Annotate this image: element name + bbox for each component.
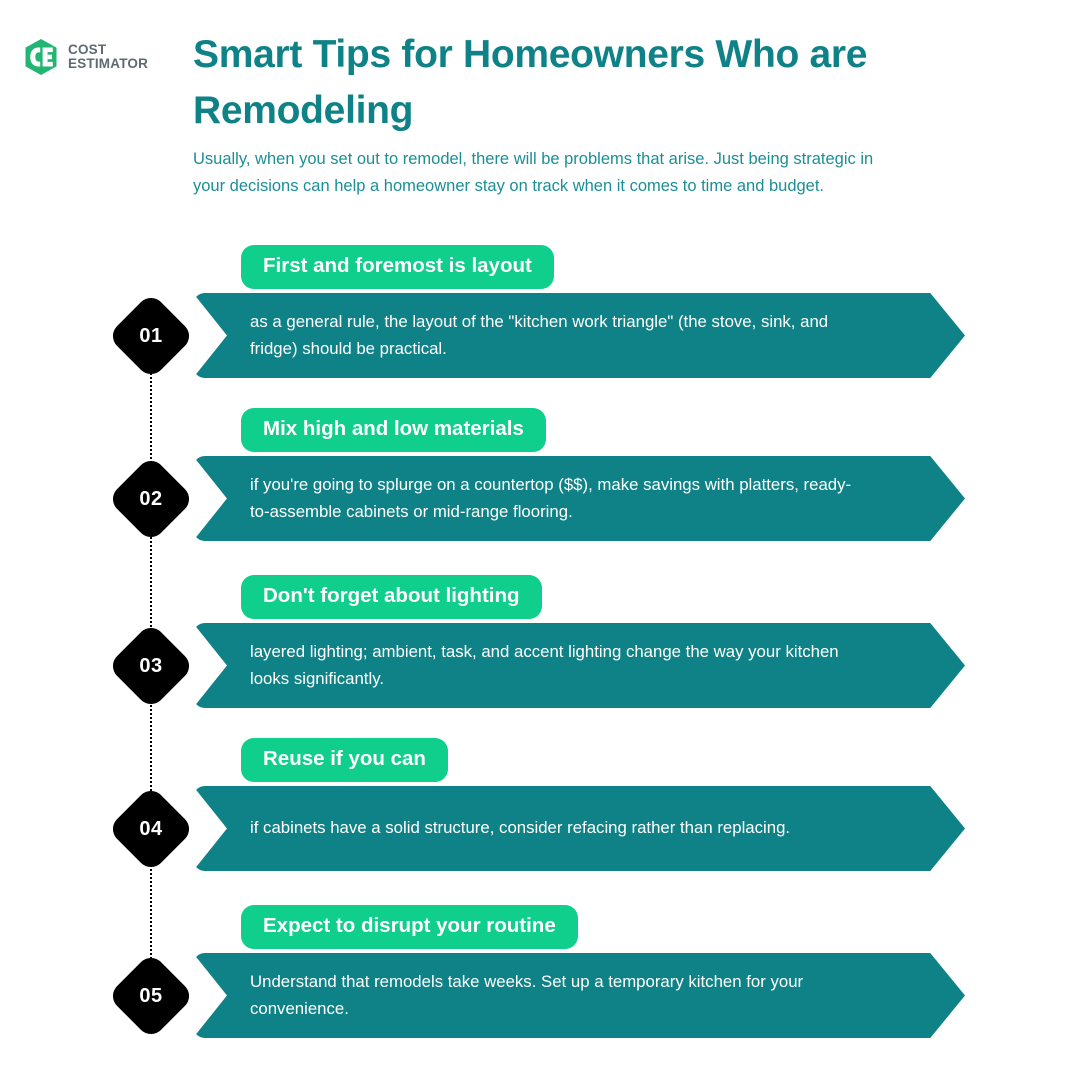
tips-list: First and foremost is layout as a genera…	[0, 0, 1080, 1080]
tip-body-banner: Understand that remodels take weeks. Set…	[193, 953, 965, 1038]
tip-body-text: as a general rule, the layout of the "ki…	[193, 309, 965, 363]
tip-heading-pill[interactable]: Mix high and low materials	[241, 408, 546, 452]
tip-body-text: if you're going to splurge on a countert…	[193, 472, 965, 526]
tip-heading-pill[interactable]: First and foremost is layout	[241, 245, 554, 289]
tip-body-banner: as a general rule, the layout of the "ki…	[193, 293, 965, 378]
tip-number-label: 02	[115, 468, 187, 530]
tip-body-text: if cabinets have a solid structure, cons…	[193, 815, 965, 842]
tip-number-label: 03	[115, 635, 187, 697]
tip-body-text: layered lighting; ambient, task, and acc…	[193, 639, 965, 693]
tip-number-label: 05	[115, 965, 187, 1027]
tip-heading-pill[interactable]: Expect to disrupt your routine	[241, 905, 578, 949]
tip-heading-pill[interactable]: Reuse if you can	[241, 738, 448, 782]
tip-body-banner: if you're going to splurge on a countert…	[193, 456, 965, 541]
infographic-page: COST ESTIMATOR Smart Tips for Homeowners…	[0, 0, 1080, 1080]
tip-body-banner: if cabinets have a solid structure, cons…	[193, 786, 965, 871]
tip-body-text: Understand that remodels take weeks. Set…	[193, 969, 965, 1023]
tip-number-label: 01	[115, 305, 187, 367]
tip-number-label: 04	[115, 798, 187, 860]
tip-heading-pill[interactable]: Don't forget about lighting	[241, 575, 542, 619]
tip-body-banner: layered lighting; ambient, task, and acc…	[193, 623, 965, 708]
